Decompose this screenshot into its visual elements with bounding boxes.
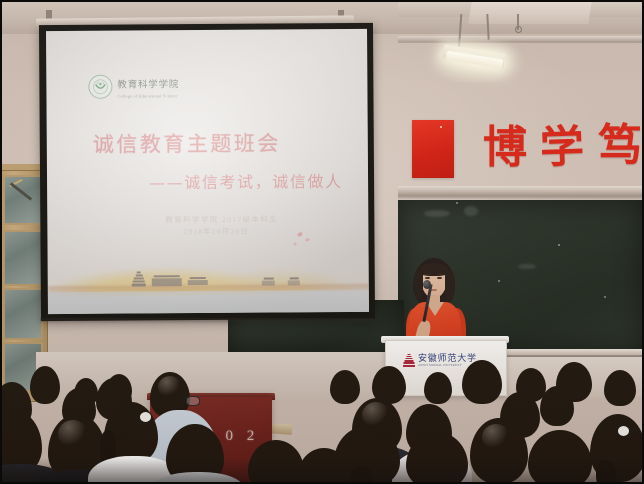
slide-logo-name-cn: 教育科学学院 [117,80,179,90]
audience-head [528,430,592,484]
speaker-hair-side [445,270,455,302]
lamp-hook-icon [515,26,522,33]
door-glass-pane [3,288,43,340]
audience-head [330,370,360,404]
slide-title: 诚信教育主题班会 [93,127,281,158]
college-seal-icon [88,75,112,99]
microphone-head [423,280,431,289]
ponytail [596,460,616,484]
banner-character-3: 笃 [598,124,642,168]
speaker-hair-side [414,270,423,300]
wall-ledge [398,186,644,196]
hall-illustration [188,277,208,286]
ponytail [350,466,372,484]
pagoda-illustration [132,271,146,287]
audience-head [248,440,304,484]
hair-tie [618,426,629,436]
audience-head [424,372,452,404]
door-glass-pane [3,230,43,286]
classroom-photo-scene: 博 学 笃 [0,0,644,484]
projection-screen: 教育科学学院 College of Educational Science 诚信… [39,23,375,321]
slide-byline: 教育科学学院 2017级本科生 [165,214,278,226]
banner-character-2: 学 [539,125,585,171]
red-wall-panel [412,120,454,178]
audience-head [30,366,60,404]
slide-subtitle: ——诚信考试，诚信做人 [149,168,343,193]
audience-head [462,360,502,404]
slide-artwork [47,226,369,314]
eyeglasses-icon [186,396,200,406]
hair-tie [140,412,151,422]
audience-head [406,432,468,484]
slide-logo-text: 教育科学学院 College of Educational Science [117,74,179,99]
audience [0,352,644,484]
banner-character-1: 博 [483,126,527,170]
audience-head [604,370,636,406]
slide-surface: 教育科学学院 College of Educational Science 诚信… [46,29,369,314]
slide-logo-name-en: College of Educational Science [117,94,179,99]
screen-bottom-shadow [40,318,374,324]
far-building-illustration [288,277,300,286]
temple-illustration [152,275,182,287]
slide-institution-logo: 教育科学学院 College of Educational Science [88,74,179,99]
wall-rail-shadow [398,41,644,43]
door-glass-pane [3,175,43,225]
far-building-illustration [262,278,275,287]
audience-head [540,386,574,426]
